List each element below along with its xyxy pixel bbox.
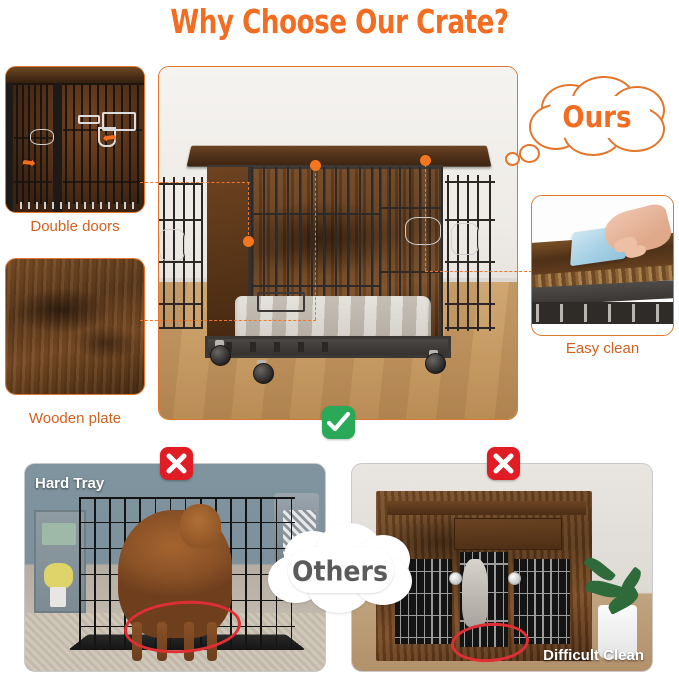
check-icon <box>322 406 355 439</box>
x-icon-hard-tray <box>160 447 193 480</box>
x-glyph <box>166 453 187 474</box>
ours-bubble-label: Ours <box>523 100 671 134</box>
others-bubble: Others <box>264 523 416 619</box>
shelf-flowers <box>44 563 74 589</box>
furniture-top <box>387 501 586 515</box>
page-title: Why Choose Our Crate? <box>41 2 639 41</box>
callout-line-easy-clean-h <box>425 271 537 272</box>
callout-line-double-doors-v <box>248 182 249 240</box>
comparison-label-hard-tray: Hard Tray <box>35 475 104 492</box>
crate-bottom-grid <box>20 202 141 209</box>
shelf-vase <box>50 587 65 607</box>
feature-panel-wooden-plate <box>5 258 145 395</box>
ours-bubble: Ours <box>523 74 671 160</box>
callout-line-wooden-plate-v <box>315 168 316 320</box>
easy-clean-photo <box>532 196 673 335</box>
furniture-drawer <box>454 518 562 550</box>
right-open-door <box>445 175 495 331</box>
infographic-root: Why Choose Our Crate? ➦ ➦ <box>0 0 679 675</box>
double-doors-photo: ➦ ➦ <box>6 67 144 212</box>
others-bubble-label: Others <box>264 555 416 588</box>
frame-middle <box>53 83 62 212</box>
check-glyph <box>327 412 350 433</box>
callout-line-double-doors-h <box>140 182 250 183</box>
crate-front-latch <box>257 292 305 312</box>
dog-crate-furniture <box>193 145 485 370</box>
caster-wheel-3 <box>425 353 446 374</box>
x-glyph <box>493 453 514 474</box>
arrow-left-icon: ➦ <box>21 153 37 172</box>
wire-curl-left <box>30 129 54 145</box>
main-product-photo <box>159 67 517 419</box>
dog-inside-crate <box>462 559 488 627</box>
cloud-tail-bubble <box>519 144 540 163</box>
crate-bars-below <box>531 302 674 324</box>
cloud-tail-bubble <box>505 152 520 166</box>
callout-dot-double-doors <box>243 236 254 247</box>
callout-line-easy-clean-v <box>425 164 426 271</box>
callout-line-wooden-plate-h <box>140 320 316 321</box>
feature-panel-easy-clean <box>531 195 674 336</box>
latch-bar <box>78 115 100 124</box>
left-open-door <box>158 177 203 329</box>
comparison-label-difficult-clean: Difficult Clean <box>543 647 644 664</box>
feature-panel-double-doors: ➦ ➦ <box>5 66 145 213</box>
main-product-panel <box>158 66 518 420</box>
latch-wire-right <box>405 217 441 245</box>
arrow-right-icon: ➦ <box>101 128 117 147</box>
crate-wooden-tabletop <box>187 146 492 167</box>
caster-wheel-1 <box>210 345 231 366</box>
crate-wood-top <box>6 67 144 85</box>
feature-caption-easy-clean: Easy clean <box>531 340 674 357</box>
feature-caption-wooden-plate: Wooden plate <box>5 410 145 427</box>
wooden-plate-photo <box>6 259 144 394</box>
shelf-item <box>42 523 77 545</box>
dog-head <box>180 504 221 548</box>
frame-left <box>6 83 13 212</box>
feature-caption-double-doors: Double doors <box>5 218 145 235</box>
crate-base-rail <box>205 336 451 358</box>
x-icon-difficult-clean <box>487 447 520 480</box>
caster-wheel-2 <box>253 363 274 384</box>
